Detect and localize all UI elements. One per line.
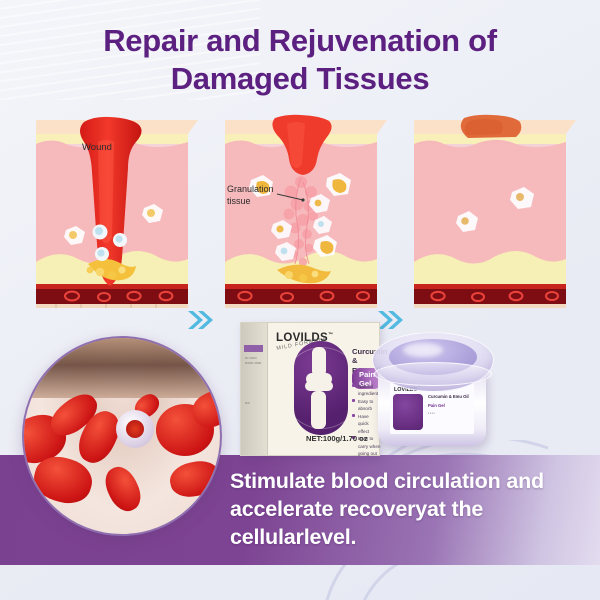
product-shot: ••• •••••• ••••••• •••••• •••• LOVILDS™ … [232, 318, 522, 466]
footer-message-line3: cellularlevel. [230, 524, 580, 552]
jar-rim [374, 362, 492, 386]
page-title-line1: Repair and Rejuvenation of [103, 23, 497, 58]
page-title-line2: Damaged Tissues [0, 60, 600, 98]
footer-message-line1: Stimulate blood circulation and [230, 468, 580, 496]
jar-product-name: Curcumin & Emu Oil [428, 394, 469, 399]
blood-circulation-microscopy [22, 336, 222, 536]
side-panel-text-2: •••• [245, 401, 253, 406]
panel-granulation-label-line2: tissue [227, 196, 251, 206]
panel-scab [404, 112, 576, 308]
gel-highlight [403, 343, 443, 357]
footer-message: Stimulate blood circulation and accelera… [230, 468, 580, 552]
side-panel-text-1: ••• •••••• ••••••• •••••• [245, 356, 263, 366]
knee-joint-illustration [294, 341, 348, 435]
panel-granulation-label-line1: Granulation [227, 184, 274, 194]
product-box: ••• •••••• ••••••• •••••• •••• LOVILDS™ … [240, 322, 380, 456]
side-panel-chip [244, 345, 263, 352]
tibia-bone [311, 391, 326, 429]
jar-product-type: Pain Gel [428, 403, 445, 408]
product-net-weight: NET:100g/1.70 oz [306, 434, 368, 443]
white-blood-cell [116, 410, 154, 448]
product-box-front: LOVILDS™ MILD FORMULA Curcumin & Emu Oil… [268, 323, 379, 455]
skin-cross-section-scab [404, 112, 576, 308]
panel-granulation: Granulation tissue [215, 112, 387, 308]
jar-knee-illustration [393, 394, 423, 430]
page-title: Repair and Rejuvenation of Damaged Tissu… [0, 22, 600, 98]
healing-process-panels: Wound [0, 112, 600, 308]
panel-wound: Wound [26, 112, 198, 308]
trademark-symbol: ™ [328, 332, 333, 338]
product-jar: LOVILDS™ Curcumin & Emu Oil Pain Gel ▪ ▪… [372, 332, 492, 450]
jar-features: ▪ ▪ ▪ ▪ [428, 411, 435, 416]
process-arrow-1 [186, 308, 214, 332]
skin-cross-section-granulation: Granulation tissue [215, 112, 387, 308]
cell-nucleus [126, 420, 144, 438]
skin-cross-section-wound: Wound [26, 112, 198, 308]
vessel-wall [22, 338, 222, 398]
panel-wound-label: Wound [82, 142, 112, 153]
red-blood-cell [99, 462, 146, 516]
infographic-root: Repair and Rejuvenation of Damaged Tissu… [0, 0, 600, 600]
patella-bone [305, 381, 333, 391]
product-box-side-panel: ••• •••••• ••••••• •••••• •••• [241, 323, 268, 455]
footer-message-line2: accelerate recoveryat the [230, 496, 580, 524]
